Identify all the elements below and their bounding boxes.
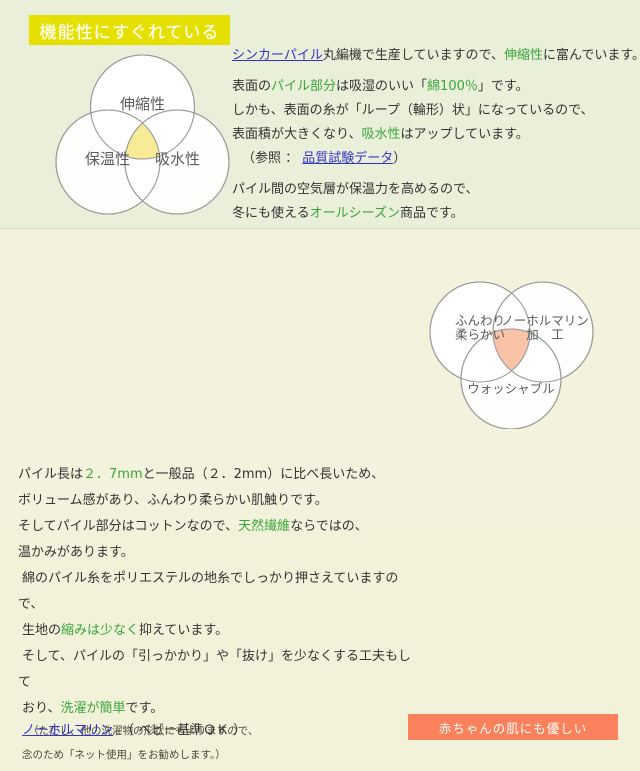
text-run: 表面積が大きくなり、 — [232, 127, 361, 142]
text-run: 丸編機で生産していますので、 — [323, 48, 504, 63]
highlight-easy-wash: 洗濯が簡単 — [60, 701, 125, 716]
highlight-stretch: 伸縮性 — [504, 48, 543, 63]
venn-label-washable: ウォッシャブル — [461, 382, 561, 396]
spacer — [232, 171, 640, 178]
text-line: そして、パイルの「引っかかり」や「抜け」を少なくする工夫もし — [18, 645, 398, 664]
text-run: 生地の — [22, 623, 61, 638]
top-section: 機能性にすぐれている 伸縮性 — [0, 0, 640, 228]
venn-diagram-gentleness: ふんわり 柔らかい ノーホルマリン 加 工 ウォッシャブル — [403, 279, 613, 429]
link-no-formalin[interactable]: ノーホルマリン — [22, 723, 113, 738]
text-run: と一般品（２．2mm）に比べ長いため、 — [143, 467, 385, 482]
text-line-reference: （参照 ： 品質試験データ） — [232, 147, 640, 166]
venn-diagram-functionality: 伸縮性 保温性 吸水性 — [50, 52, 235, 217]
highlight-pile-length: ２．7mm — [83, 467, 143, 482]
text-line: シンカーパイル丸編機で生産していますので、伸縮性に富んでいます。 — [232, 44, 640, 63]
text-line: 生地の縮みは少なく抑えています。 — [18, 619, 398, 638]
venn-gentleness-svg — [403, 279, 613, 429]
baby-friendly-banner: 赤ちゃんの肌にも優しい — [408, 714, 618, 740]
highlight-pile-part: パイル部分 — [271, 79, 336, 94]
text-run: 商品です。 — [400, 206, 464, 221]
highlight-natural-fiber: 天然繊維 — [238, 519, 290, 534]
venn-label-stretch: 伸縮性 — [105, 96, 180, 113]
highlight-absorbency: 吸水性 — [361, 127, 400, 142]
text-run: です。 — [126, 701, 164, 716]
text-line: 表面のパイル部分は吸湿のいい「綿100％」です。 — [232, 75, 640, 94]
text-line: 冬にも使えるオールシーズン商品です。 — [232, 202, 640, 221]
text-run: 冬にも使える — [232, 206, 310, 221]
spacer — [232, 68, 640, 75]
text-run: そしてパイル部分はコットンなので、 — [18, 519, 238, 534]
text-line: パイル長は２．7mmと一般品（２．2mm）に比べ長いため、 — [18, 463, 398, 482]
bottom-link-suffix: （ ベビー基準ＯＫ ） — [113, 723, 246, 738]
text-line: 綿のパイル糸をポリエステルの地糸でしっかり押さえていますの — [18, 567, 398, 586]
text-line-note: 念のため「ネット使用」をお勧めします。） — [18, 747, 398, 762]
section-title-label: 機能性にすぐれている — [40, 18, 220, 43]
baby-friendly-banner-label: 赤ちゃんの肌にも優しい — [439, 718, 588, 737]
text-run: に富んでいます。 — [543, 48, 640, 63]
highlight-shrinkage: 縮みは少なく — [61, 623, 139, 638]
text-run: おり、 — [22, 701, 60, 716]
text-run: （参照 ： — [242, 151, 302, 166]
text-run: はアップしています。 — [401, 127, 529, 142]
text-run: パイル長は — [18, 467, 83, 482]
text-line: パイル間の空気層が保温力を高めるので、 — [232, 178, 640, 197]
venn-label-noformalin: ノーホルマリン 加 工 — [499, 314, 591, 343]
venn-label-warmth: 保温性 — [70, 151, 145, 168]
highlight-cotton-100: 綿100％ — [427, 79, 478, 94]
text-line: ボリューム感があり、ふんわり柔らかい肌触りです。 — [18, 489, 398, 508]
text-run: は吸湿のいい「 — [336, 79, 427, 94]
top-description-text: シンカーパイル丸編機で生産していますので、伸縮性に富んでいます。 表面のパイル部… — [232, 44, 640, 250]
text-line: 温かみがあります。 — [18, 541, 398, 560]
text-line: そしてパイル部分はコットンなので、天然繊維ならではの、 — [18, 515, 398, 534]
text-run: 」です。 — [478, 79, 529, 94]
page-root: 機能性にすぐれている 伸縮性 — [0, 0, 640, 528]
bottom-link-line: ノーホルマリン（ ベビー基準ＯＫ ） — [22, 719, 246, 738]
venn-label-absorb: 吸水性 — [140, 151, 215, 168]
text-run: ならではの、 — [290, 519, 368, 534]
text-run: 抑えています。 — [139, 623, 228, 638]
link-quality-test-data-1[interactable]: 品質試験データ — [302, 151, 393, 166]
text-line: 表面積が大きくなり、吸水性はアップしています。 — [232, 123, 640, 142]
text-line: しかも、表面の糸が「ループ（輪形）状」になっているので、 — [232, 99, 640, 118]
text-run: ） — [393, 151, 406, 166]
bottom-section: パイル長は２．7mmと一般品（２．2mm）に比べ長いため、 ボリューム感があり、… — [0, 228, 640, 529]
text-line: て — [18, 671, 398, 690]
link-sinker-pile[interactable]: シンカーパイル — [232, 48, 323, 63]
text-line: おり、洗濯が簡単です。 — [18, 697, 398, 716]
text-line: で、 — [18, 593, 398, 612]
highlight-all-season: オールシーズン — [310, 206, 400, 221]
section-title-banner: 機能性にすぐれている — [29, 15, 230, 45]
text-run: 表面の — [232, 79, 271, 94]
venn-functionality-svg — [50, 52, 235, 217]
